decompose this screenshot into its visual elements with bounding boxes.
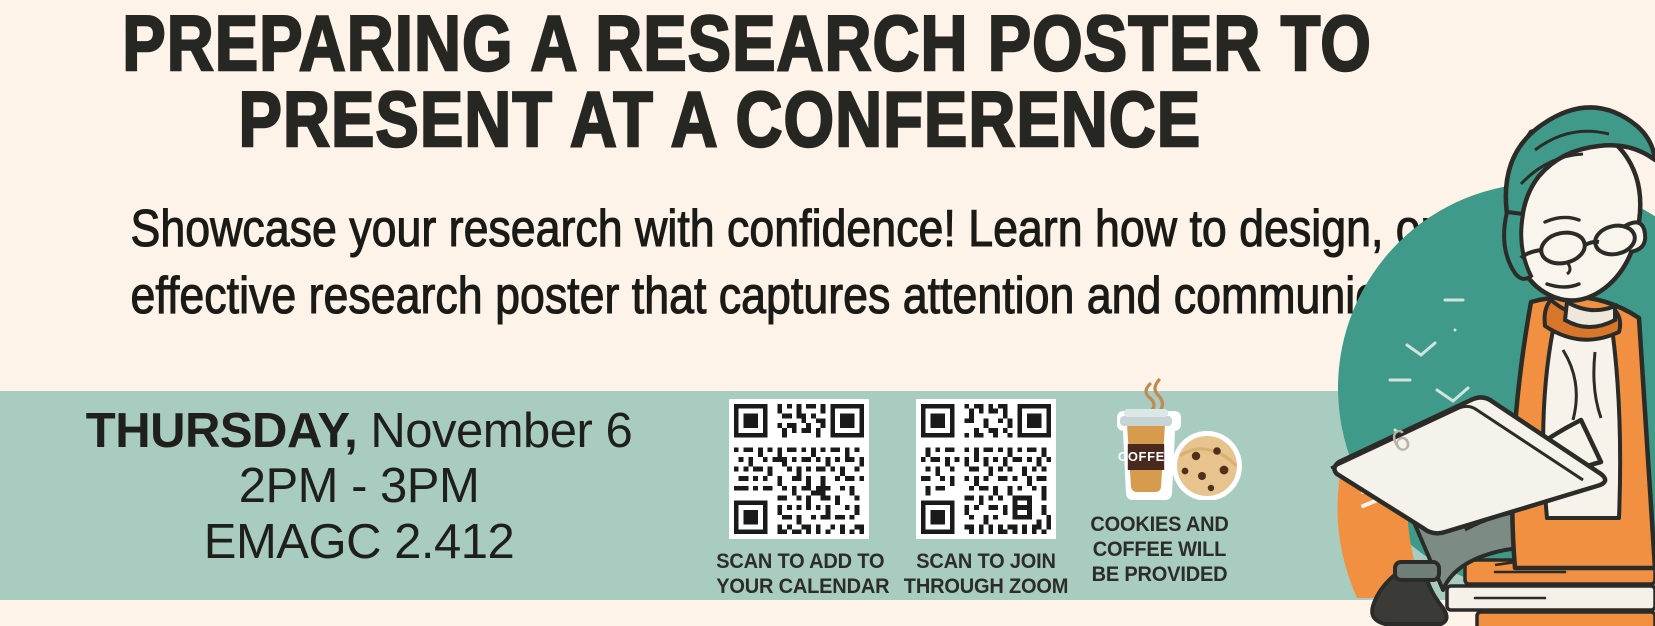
event-time: 2PM - 3PM bbox=[34, 459, 684, 514]
event-details: THURSDAY, November 6 2PM - 3PM EMAGC 2.4… bbox=[34, 404, 684, 570]
headline-line-1: PREPARING A RESEARCH POSTER TO bbox=[122, 6, 1317, 82]
qr-calendar-caption-line-1: SCAN TO ADD TO bbox=[716, 549, 882, 574]
snacks-caption-line-2: COFFEE WILL bbox=[1078, 537, 1241, 562]
qr-zoom-caption: SCAN TO JOIN THROUGH ZOOM bbox=[903, 549, 1069, 598]
subtitle: Showcase your research with confidence! … bbox=[131, 196, 1292, 329]
qr-zoom-caption-line-2: THROUGH ZOOM bbox=[903, 574, 1069, 599]
qr-block-calendar[interactable]: SCAN TO ADD TO YOUR CALENDAR bbox=[710, 399, 888, 598]
qr-zoom-caption-line-1: SCAN TO JOIN bbox=[903, 549, 1069, 574]
snacks-caption-line-1: COOKIES AND bbox=[1078, 512, 1241, 537]
subtitle-line-2: effective research poster that captures … bbox=[131, 263, 1292, 330]
subtitle-line-1: Showcase your research with confidence! … bbox=[131, 196, 1292, 263]
page-title: PREPARING A RESEARCH POSTER TO PRESENT A… bbox=[122, 6, 1317, 157]
headline-line-2: PRESENT AT A CONFERENCE bbox=[122, 82, 1317, 158]
student-illustration-svg: 6 bbox=[1295, 0, 1655, 626]
coffee-cookie-icon: COFFEE bbox=[1072, 378, 1247, 500]
event-day: THURSDAY, bbox=[86, 404, 357, 458]
qr-block-zoom[interactable]: SCAN TO JOIN THROUGH ZOOM bbox=[897, 399, 1075, 598]
event-location: EMAGC 2.412 bbox=[34, 515, 684, 570]
event-date: November 6 bbox=[357, 404, 632, 458]
snacks-block: COFFEE COOKIES AND COFFEE WILL BE PROVID… bbox=[1072, 378, 1247, 587]
student-with-laptop-illustration: 6 bbox=[1295, 0, 1655, 626]
poster-canvas: PREPARING A RESEARCH POSTER TO PRESENT A… bbox=[0, 0, 1655, 626]
qr-code-icon[interactable] bbox=[729, 399, 869, 539]
snacks-caption: COOKIES AND COFFEE WILL BE PROVIDED bbox=[1078, 512, 1241, 587]
coffee-cookie-illustration: COFFEE bbox=[1072, 378, 1247, 500]
event-date-line: THURSDAY, November 6 bbox=[34, 404, 684, 459]
coffee-cup-label: COFFEE bbox=[1118, 449, 1174, 464]
qr-calendar-caption: SCAN TO ADD TO YOUR CALENDAR bbox=[716, 549, 882, 598]
qr-calendar-caption-line-2: YOUR CALENDAR bbox=[716, 574, 882, 599]
qr-code-icon[interactable] bbox=[916, 399, 1056, 539]
snacks-caption-line-3: BE PROVIDED bbox=[1078, 562, 1241, 587]
